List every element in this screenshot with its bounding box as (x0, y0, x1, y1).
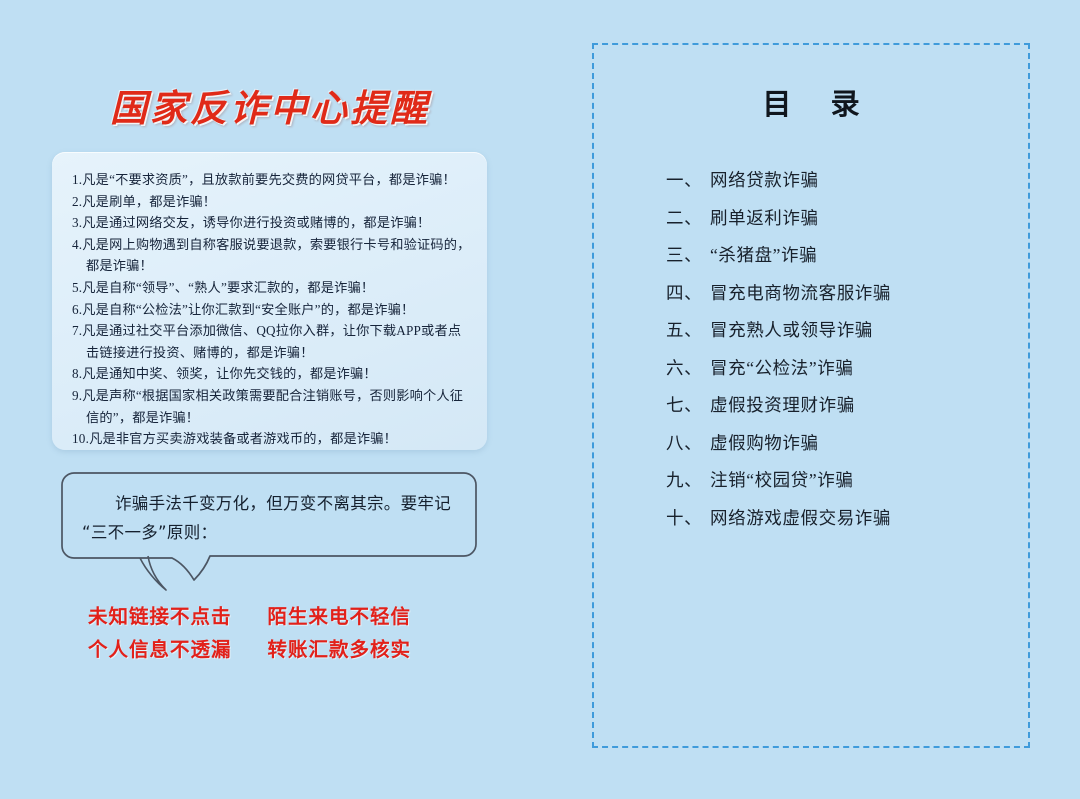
toc-item-number: 二、 (666, 200, 710, 238)
rule-item: 1.凡是“不要求资质”，且放款前要先交费的网贷平台，都是诈骗！ (72, 169, 473, 191)
toc-item-number: 十、 (666, 500, 710, 538)
rule-item: 5.凡是自称“领导”、“熟人”要求汇款的，都是诈骗！ (72, 277, 473, 299)
toc-item[interactable]: 一、网络贷款诈骗 (666, 162, 1010, 200)
toc-heading: 目 录 (594, 81, 1028, 123)
rule-text: 凡是通过网络交友，诱导你进行投资或赌博的，都是诈骗！ (82, 215, 430, 230)
toc-item[interactable]: 三、“杀猪盘”诈骗 (666, 237, 1010, 275)
rule-number: 9. (72, 388, 82, 403)
toc-list: 一、网络贷款诈骗二、刷单返利诈骗三、“杀猪盘”诈骗四、冒充电商物流客服诈骗五、冒… (666, 162, 1010, 537)
toc-item-number: 三、 (666, 237, 710, 275)
rule-item: 3.凡是通过网络交友，诱导你进行投资或赌博的，都是诈骗！ (72, 212, 473, 234)
slogan-grid: 未知链接不点击陌生来电不轻信个人信息不透漏转账汇款多核实 (88, 600, 468, 662)
rule-number: 2. (72, 194, 82, 209)
rule-text: 凡是刷单，都是诈骗！ (82, 194, 216, 209)
rule-item: 2.凡是刷单，都是诈骗！ (72, 191, 473, 213)
table-of-contents-frame: 目 录 一、网络贷款诈骗二、刷单返利诈骗三、“杀猪盘”诈骗四、冒充电商物流客服诈… (592, 43, 1030, 748)
slogan-text: 未知链接不点击 (88, 600, 232, 629)
toc-item-label: 冒充“公检法”诈骗 (710, 358, 853, 378)
rule-number: 7. (72, 323, 82, 338)
toc-item[interactable]: 五、冒充熟人或领导诈骗 (666, 312, 1010, 350)
anti-fraud-rules-card: 1.凡是“不要求资质”，且放款前要先交费的网贷平台，都是诈骗！2.凡是刷单，都是… (52, 152, 487, 450)
toc-item-number: 七、 (666, 387, 710, 425)
toc-item-label: 网络贷款诈骗 (710, 170, 819, 190)
rule-number: 3. (72, 215, 82, 230)
rule-number: 10. (72, 431, 89, 446)
rule-item: 10.凡是非官方买卖游戏装备或者游戏币的，都是诈骗！ (72, 428, 473, 450)
page-title: 国家反诈中心提醒 (0, 78, 540, 132)
slogan-text: 个人信息不透漏 (88, 633, 232, 662)
rule-item: 7.凡是通过社交平台添加微信、QQ拉你入群，让你下载APP或者点击链接进行投资、… (72, 320, 473, 363)
toc-item-number: 八、 (666, 425, 710, 463)
toc-item-label: 网络游戏虚假交易诈骗 (710, 508, 891, 528)
rule-number: 5. (72, 280, 82, 295)
toc-item-label: 刷单返利诈骗 (710, 208, 819, 228)
toc-item[interactable]: 四、冒充电商物流客服诈骗 (666, 275, 1010, 313)
bubble-line-2: “三不一多”原则： (82, 518, 462, 547)
rule-text: 凡是自称“领导”、“熟人”要求汇款的，都是诈骗！ (82, 280, 374, 295)
toc-item[interactable]: 十、网络游戏虚假交易诈骗 (666, 500, 1010, 538)
slogan-text: 陌生来电不轻信 (268, 600, 412, 629)
rule-item: 6.凡是自称“公检法”让你汇款到“安全账户”的，都是诈骗！ (72, 299, 473, 321)
toc-item-number: 六、 (666, 350, 710, 388)
toc-item-number: 五、 (666, 312, 710, 350)
poster-canvas: 国家反诈中心提醒 1.凡是“不要求资质”，且放款前要先交费的网贷平台，都是诈骗！… (0, 0, 1080, 799)
toc-item[interactable]: 八、虚假购物诈骗 (666, 425, 1010, 463)
toc-item-number: 四、 (666, 275, 710, 313)
toc-item[interactable]: 二、刷单返利诈骗 (666, 200, 1010, 238)
toc-item[interactable]: 七、虚假投资理财诈骗 (666, 387, 1010, 425)
rule-text: 凡是自称“公检法”让你汇款到“安全账户”的，都是诈骗！ (82, 302, 414, 317)
slogan-text: 转账汇款多核实 (268, 633, 412, 662)
rule-number: 8. (72, 366, 82, 381)
bubble-line-1: 诈骗手法千变万化，但万变不离其宗。要牢记 (82, 489, 462, 518)
toc-item-label: 冒充电商物流客服诈骗 (710, 283, 891, 303)
speech-bubble: 诈骗手法千变万化，但万变不离其宗。要牢记 “三不一多”原则： (60, 470, 490, 595)
rule-text: 凡是网上购物遇到自称客服说要退款，索要银行卡号和验证码的，都是诈骗！ (82, 237, 470, 274)
toc-item-label: 虚假投资理财诈骗 (710, 395, 855, 415)
rule-text: 凡是通过社交平台添加微信、QQ拉你入群，让你下载APP或者点击链接进行投资、赌博… (82, 323, 461, 360)
rule-text: 凡是非官方买卖游戏装备或者游戏币的，都是诈骗！ (89, 431, 397, 446)
toc-item-label: 虚假购物诈骗 (710, 433, 819, 453)
toc-item-number: 九、 (666, 462, 710, 500)
rule-item: 4.凡是网上购物遇到自称客服说要退款，索要银行卡号和验证码的，都是诈骗！ (72, 234, 473, 277)
toc-item-label: 冒充熟人或领导诈骗 (710, 320, 873, 340)
speech-bubble-text: 诈骗手法千变万化，但万变不离其宗。要牢记 “三不一多”原则： (82, 489, 462, 547)
rule-text: 凡是通知中奖、领奖，让你先交钱的，都是诈骗！ (82, 366, 377, 381)
toc-item[interactable]: 九、注销“校园贷”诈骗 (666, 462, 1010, 500)
rule-text: 凡是“不要求资质”，且放款前要先交费的网贷平台，都是诈骗！ (82, 172, 456, 187)
rule-number: 1. (72, 172, 82, 187)
left-column: 国家反诈中心提醒 1.凡是“不要求资质”，且放款前要先交费的网贷平台，都是诈骗！… (0, 0, 560, 799)
rules-list: 1.凡是“不要求资质”，且放款前要先交费的网贷平台，都是诈骗！2.凡是刷单，都是… (72, 169, 473, 450)
rule-item: 8.凡是通知中奖、领奖，让你先交钱的，都是诈骗！ (72, 363, 473, 385)
toc-item-number: 一、 (666, 162, 710, 200)
rule-number: 4. (72, 237, 82, 252)
rule-text: 凡是声称“根据国家相关政策需要配合注销账号，否则影响个人征信的”，都是诈骗！ (82, 388, 463, 425)
rule-number: 6. (72, 302, 82, 317)
rule-item: 9.凡是声称“根据国家相关政策需要配合注销账号，否则影响个人征信的”，都是诈骗！ (72, 385, 473, 428)
toc-item-label: “杀猪盘”诈骗 (710, 245, 817, 265)
toc-item[interactable]: 六、冒充“公检法”诈骗 (666, 350, 1010, 388)
toc-item-label: 注销“校园贷”诈骗 (710, 470, 853, 490)
